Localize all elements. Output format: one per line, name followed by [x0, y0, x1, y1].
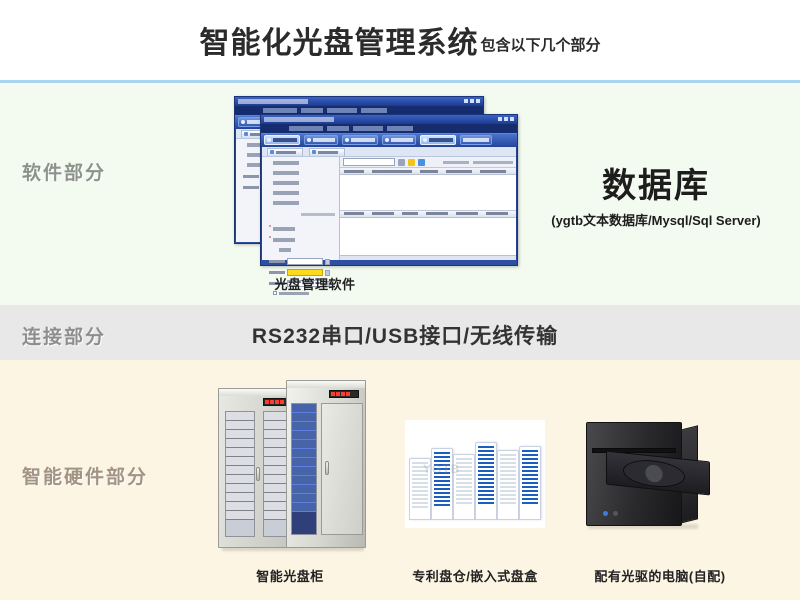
menu-item[interactable]	[361, 108, 387, 113]
record-count	[443, 161, 513, 164]
caption-software: 光盘管理软件	[235, 274, 395, 293]
required-asterisk: *	[269, 237, 271, 242]
computer-image	[578, 416, 718, 532]
form-label	[273, 171, 299, 175]
disc-icon	[241, 120, 245, 124]
cabinet-shelf	[226, 439, 254, 448]
form-field[interactable]	[269, 258, 336, 265]
toolbar-button[interactable]	[342, 135, 378, 145]
refresh-icon[interactable]	[418, 159, 425, 166]
cabinet-glass-door-left[interactable]	[225, 411, 255, 537]
tab-icon	[312, 150, 316, 154]
window-client-area: * *	[261, 146, 517, 259]
cabinet-shelf	[292, 485, 316, 494]
toolbar-button-active[interactable]	[264, 135, 300, 145]
led-segment	[275, 400, 279, 404]
caption-pc: 配有光驱的电脑(自配)	[560, 566, 760, 585]
text-input[interactable]	[287, 258, 323, 265]
section-label-software: 软件部分	[22, 158, 106, 185]
toolbar-button[interactable]	[460, 135, 492, 145]
cabinet-shelf	[226, 466, 254, 475]
software-screenshot-image: * *	[234, 96, 524, 271]
disc-cartridge	[475, 442, 497, 520]
form-label	[273, 201, 299, 205]
app-window-front: * *	[260, 114, 518, 266]
menu-item[interactable]	[353, 126, 383, 131]
required-asterisk: *	[269, 226, 271, 231]
required-field-label	[269, 248, 336, 252]
window-body: * *	[262, 157, 516, 260]
form-panel: * *	[262, 157, 340, 260]
toolbar-button-label	[391, 138, 413, 142]
field-label	[243, 186, 259, 189]
menu-item[interactable]	[263, 108, 297, 113]
cabinet-shelf	[292, 476, 316, 485]
disc-cartridge	[431, 448, 453, 520]
grid-body[interactable]	[340, 218, 516, 256]
led-segment	[331, 392, 335, 396]
settings-icon	[385, 138, 389, 142]
column-header[interactable]	[372, 170, 412, 173]
image-watermark: YGTB	[423, 462, 460, 476]
page-subtitle: 包含以下几个部分	[478, 34, 600, 55]
field-label	[273, 238, 295, 242]
tab-item[interactable]	[309, 148, 345, 156]
disc-cartridge	[497, 450, 519, 520]
minimize-icon[interactable]	[498, 117, 502, 121]
tab-label	[276, 151, 296, 154]
window-controls	[464, 99, 480, 103]
search-bar	[340, 157, 516, 168]
led-segment	[336, 392, 340, 396]
cabinet-shelf	[226, 511, 254, 520]
led-segment	[346, 392, 350, 396]
column-header[interactable]	[426, 212, 448, 215]
column-header[interactable]	[344, 170, 364, 173]
menu-item[interactable]	[327, 126, 349, 131]
toolbar-button-label	[463, 138, 489, 142]
required-field-label: *	[269, 226, 336, 231]
led-segment	[280, 400, 284, 404]
tab-item[interactable]	[267, 148, 303, 156]
cabinet-shelf	[292, 413, 316, 422]
tab-icon	[244, 132, 248, 136]
cabinet-glass-door-lit[interactable]	[291, 403, 317, 535]
column-header[interactable]	[446, 170, 472, 173]
column-header[interactable]	[456, 212, 478, 215]
caption-cabinet: 智能光盘柜	[205, 566, 375, 585]
cartridge-fins	[500, 454, 516, 515]
cabinet-shelf	[292, 431, 316, 440]
cabinet-right	[286, 380, 366, 548]
column-header[interactable]	[486, 212, 508, 215]
disc-icon	[267, 138, 271, 142]
cabinet-top	[287, 381, 365, 388]
search-icon	[423, 138, 427, 142]
field-label	[243, 175, 259, 178]
window-title-text	[238, 99, 308, 104]
disc-icon	[307, 138, 311, 142]
section-label-hardware: 智能硬件部分	[22, 462, 148, 489]
cabinet-shelf	[292, 440, 316, 449]
toolbar-button-label	[273, 138, 297, 142]
menu-item[interactable]	[387, 126, 413, 131]
column-header[interactable]	[420, 170, 438, 173]
menu-item[interactable]	[301, 108, 323, 113]
cabinet-shelf	[226, 502, 254, 511]
toolbar-button-label	[351, 138, 375, 142]
toolbar-button[interactable]	[304, 135, 338, 145]
picker-button[interactable]	[325, 259, 330, 265]
column-header[interactable]	[372, 212, 394, 215]
cabinet-shelf	[292, 422, 316, 431]
cabinet-shelf	[226, 493, 254, 502]
hdd-led-icon	[613, 511, 618, 516]
field-label	[273, 227, 295, 231]
column-header[interactable]	[480, 170, 506, 173]
cabinet-shelf	[292, 404, 316, 413]
window-menustrip	[261, 124, 517, 133]
window-toolbar	[261, 133, 517, 146]
hint-text	[301, 213, 335, 216]
cabinet-shelf	[226, 430, 254, 439]
search-input[interactable]	[343, 158, 395, 166]
cabinet-shelf	[292, 503, 316, 512]
grid-body[interactable]	[340, 175, 516, 211]
disc-cartridge	[519, 446, 541, 520]
disc-platter	[623, 457, 685, 490]
search-icon[interactable]	[398, 159, 405, 166]
database-title: 数据库	[520, 158, 792, 207]
cabinet-shelf	[226, 457, 254, 466]
column-header[interactable]	[344, 212, 364, 215]
grid-header	[340, 211, 516, 218]
optical-drive-slot	[592, 448, 676, 453]
field-label	[279, 248, 291, 252]
window-titlebar	[235, 97, 483, 106]
cabinet-shelf	[292, 449, 316, 458]
section-label-connection: 连接部分	[22, 322, 106, 349]
poster-header: 智能化光盘管理系统包含以下几个部分	[0, 0, 800, 80]
window-titlebar	[261, 115, 517, 124]
cabinet-shelf	[292, 494, 316, 503]
minimize-icon[interactable]	[464, 99, 468, 103]
maximize-icon[interactable]	[504, 117, 508, 121]
cabinet-image	[208, 378, 378, 556]
folder-icon[interactable]	[408, 159, 415, 166]
connection-text: RS232串口/USB接口/无线传输	[180, 320, 630, 350]
tabstrip	[262, 147, 516, 157]
tab-label	[318, 151, 338, 154]
required-field-label: *	[269, 237, 336, 242]
toolbar-button[interactable]	[382, 135, 416, 145]
close-icon[interactable]	[476, 99, 480, 103]
cabinet-shelf	[226, 412, 254, 421]
led-segment	[270, 400, 274, 404]
caption-tray: 专利盘仓/嵌入式盘盒	[390, 566, 560, 585]
led-segment	[265, 400, 269, 404]
toolbar-button-label	[313, 138, 335, 142]
cabinet-shelf	[226, 475, 254, 484]
disc-icon	[345, 138, 349, 142]
cabinet-shelf	[292, 467, 316, 476]
cabinet-handle[interactable]	[325, 461, 329, 475]
page-title: 智能化光盘管理系统	[199, 18, 478, 62]
cabinet-shelf	[226, 484, 254, 493]
record-count-text	[473, 161, 513, 164]
database-block: 数据库 (ygtb文本数据库/Mysql/Sql Server)	[520, 158, 792, 229]
column-header[interactable]	[402, 212, 418, 215]
form-label	[273, 191, 299, 195]
disc-tray-image: YGTB	[405, 420, 545, 528]
status-bar	[340, 255, 516, 260]
poster-root: 智能化光盘管理系统包含以下几个部分 软件部分	[0, 0, 800, 600]
cartridge-fins	[478, 446, 494, 515]
database-subtitle: (ygtb文本数据库/Mysql/Sql Server)	[520, 210, 792, 229]
led-segment	[341, 392, 345, 396]
data-panel	[340, 157, 516, 260]
menu-item[interactable]	[289, 126, 323, 131]
cabinet-shelf	[292, 458, 316, 467]
record-count-text	[443, 161, 469, 164]
menu-item[interactable]	[327, 108, 357, 113]
toolbar-button-active[interactable]	[420, 135, 456, 145]
cabinet-shelf	[226, 421, 254, 430]
cabinet-led-display	[329, 390, 359, 398]
form-label	[273, 161, 299, 165]
maximize-icon[interactable]	[470, 99, 474, 103]
computer-front-leds	[603, 511, 618, 516]
window-controls	[498, 117, 514, 121]
form-label	[273, 181, 299, 185]
window-title-text	[264, 117, 334, 122]
close-icon[interactable]	[510, 117, 514, 121]
cartridge-fins	[522, 450, 538, 515]
cabinet-shelf	[226, 448, 254, 457]
tab-icon	[270, 150, 274, 154]
toolbar-button-label	[429, 138, 453, 142]
grid-header	[340, 168, 516, 175]
cabinet-handle[interactable]	[256, 467, 260, 481]
field-label	[269, 260, 285, 263]
power-led-icon	[603, 511, 608, 516]
